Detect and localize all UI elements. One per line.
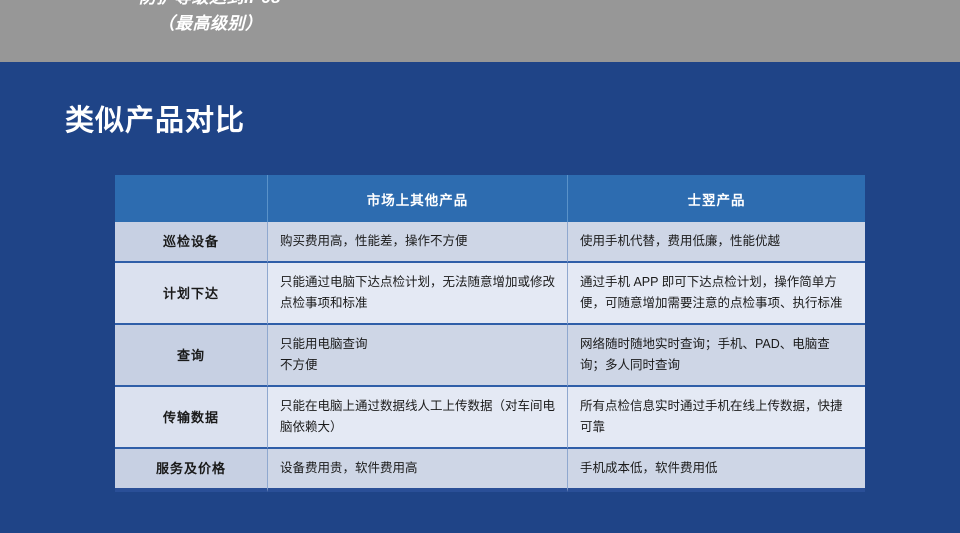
row-other-query: 只能用电脑查询 不方便 xyxy=(268,325,568,387)
table-row: 查询 只能用电脑查询 不方便 网络随时随地实时查询；手机、PAD、电脑查询；多人… xyxy=(115,325,865,387)
slide-stage: 类似产品对比 市场上其他产品 士翌产品 巡检设备 购买费用高，性能差，操作不方便 xyxy=(0,62,960,533)
row-label-data-transfer: 传输数据 xyxy=(115,387,268,449)
table-header-ours: 士翌产品 xyxy=(568,175,865,222)
row-ours-service-price: 手机成本低，软件费用低 xyxy=(568,449,865,492)
row-ours-inspection-device: 使用手机代替，费用低廉，性能优越 xyxy=(568,222,865,263)
table-row: 服务及价格 设备费用贵，软件费用高 手机成本低，软件费用低 xyxy=(115,449,865,492)
row-other-plan-dispatch: 只能通过电脑下达点检计划，无法随意增加或修改点检事项和标准 xyxy=(268,263,568,325)
top-band-line1: 防护等级达到IP68 xyxy=(0,0,420,11)
table-header-corner xyxy=(115,175,268,222)
page-title: 类似产品对比 xyxy=(65,103,245,139)
table-body: 巡检设备 购买费用高，性能差，操作不方便 使用手机代替，费用低廉，性能优越 计划… xyxy=(115,222,865,492)
table-header-other: 市场上其他产品 xyxy=(268,175,568,222)
table-header-row: 市场上其他产品 士翌产品 xyxy=(115,175,865,222)
row-label-plan-dispatch: 计划下达 xyxy=(115,263,268,325)
row-label-query: 查询 xyxy=(115,325,268,387)
top-band-line2: （最高级别） xyxy=(0,11,420,37)
table-row: 传输数据 只能在电脑上通过数据线人工上传数据（对车间电脑依赖大） 所有点检信息实… xyxy=(115,387,865,449)
row-ours-data-transfer: 所有点检信息实时通过手机在线上传数据，快捷可靠 xyxy=(568,387,865,449)
row-label-service-price: 服务及价格 xyxy=(115,449,268,492)
table-header: 市场上其他产品 士翌产品 xyxy=(115,175,865,222)
table-row: 巡检设备 购买费用高，性能差，操作不方便 使用手机代替，费用低廉，性能优越 xyxy=(115,222,865,263)
comparison-table-wrapper: 市场上其他产品 士翌产品 巡检设备 购买费用高，性能差，操作不方便 使用手机代替… xyxy=(115,175,865,492)
row-label-inspection-device: 巡检设备 xyxy=(115,222,268,263)
top-gray-band: 防护等级达到IP68 （最高级别） xyxy=(0,0,960,62)
row-other-service-price: 设备费用贵，软件费用高 xyxy=(268,449,568,492)
row-ours-plan-dispatch: 通过手机 APP 即可下达点检计划，操作简单方便，可随意增加需要注意的点检事项、… xyxy=(568,263,865,325)
row-other-query-line1: 只能用电脑查询 xyxy=(280,334,555,355)
row-other-query-line2: 不方便 xyxy=(280,355,555,376)
table-row: 计划下达 只能通过电脑下达点检计划，无法随意增加或修改点检事项和标准 通过手机 … xyxy=(115,263,865,325)
row-ours-query: 网络随时随地实时查询；手机、PAD、电脑查询；多人同时查询 xyxy=(568,325,865,387)
row-other-data-transfer: 只能在电脑上通过数据线人工上传数据（对车间电脑依赖大） xyxy=(268,387,568,449)
comparison-table: 市场上其他产品 士翌产品 巡检设备 购买费用高，性能差，操作不方便 使用手机代替… xyxy=(115,175,865,492)
row-other-inspection-device: 购买费用高，性能差，操作不方便 xyxy=(268,222,568,263)
